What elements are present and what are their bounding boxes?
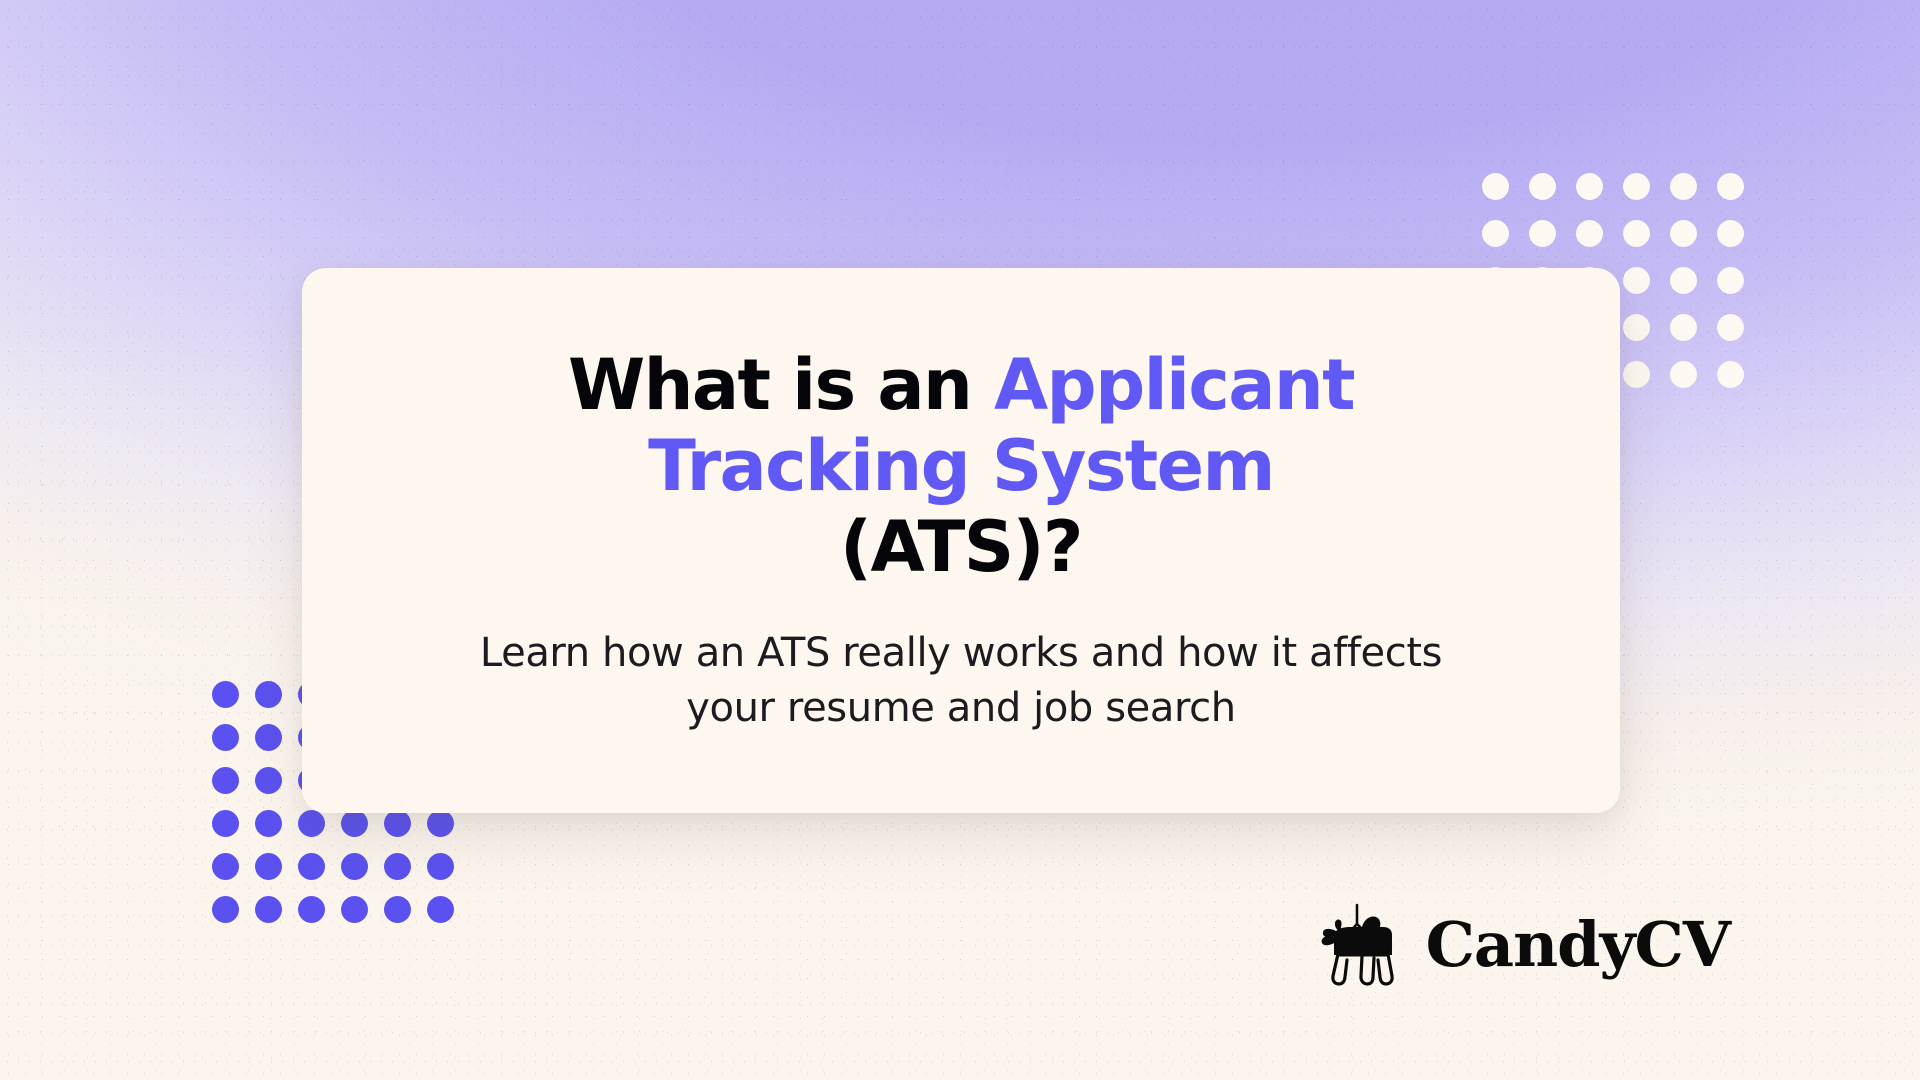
page-subtitle: Learn how an ATS really works and how it… xyxy=(441,626,1481,736)
decorative-dot xyxy=(255,681,282,708)
decorative-dot xyxy=(1717,173,1744,200)
decorative-dot xyxy=(1576,220,1603,247)
decorative-dot xyxy=(298,810,325,837)
decorative-dot xyxy=(255,896,282,923)
decorative-dot xyxy=(212,896,239,923)
decorative-dot xyxy=(427,853,454,880)
decorative-dot xyxy=(1670,314,1697,341)
hero-card: What is an Applicant Tracking System (AT… xyxy=(302,268,1620,813)
decorative-dot xyxy=(384,810,411,837)
brand-logo: CandyCV xyxy=(1316,902,1730,988)
decorative-dot xyxy=(1670,173,1697,200)
decorative-dot xyxy=(255,724,282,751)
decorative-dot xyxy=(427,896,454,923)
decorative-dot xyxy=(1670,220,1697,247)
decorative-dot xyxy=(1717,361,1744,388)
decorative-dot xyxy=(1623,361,1650,388)
decorative-dot xyxy=(341,896,368,923)
decorative-dot xyxy=(1717,220,1744,247)
decorative-dot xyxy=(1529,173,1556,200)
page-title: What is an Applicant Tracking System (AT… xyxy=(521,345,1401,589)
decorative-dot xyxy=(1717,267,1744,294)
decorative-dot xyxy=(1623,267,1650,294)
decorative-dot xyxy=(1529,220,1556,247)
decorative-dot xyxy=(255,810,282,837)
decorative-dot xyxy=(1670,361,1697,388)
decorative-dot xyxy=(384,853,411,880)
decorative-dot xyxy=(1482,173,1509,200)
decorative-dot xyxy=(427,810,454,837)
decorative-dot xyxy=(1576,173,1603,200)
decorative-dot xyxy=(212,681,239,708)
decorative-dot xyxy=(1482,220,1509,247)
brand-wordmark: CandyCV xyxy=(1426,914,1730,976)
decorative-dot xyxy=(212,853,239,880)
decorative-dot xyxy=(255,853,282,880)
decorative-dot xyxy=(212,724,239,751)
decorative-dot xyxy=(212,810,239,837)
decorative-dot xyxy=(1623,314,1650,341)
decorative-dot xyxy=(1623,220,1650,247)
decorative-dot xyxy=(1717,314,1744,341)
decorative-dot xyxy=(341,810,368,837)
decorative-dot xyxy=(384,896,411,923)
pinata-icon xyxy=(1316,902,1408,988)
decorative-dot xyxy=(341,853,368,880)
decorative-dot xyxy=(298,896,325,923)
decorative-dot xyxy=(1670,267,1697,294)
decorative-dot xyxy=(298,853,325,880)
title-segment-plain-1: What is an xyxy=(568,344,994,426)
decorative-dot xyxy=(255,767,282,794)
hero-banner: What is an Applicant Tracking System (AT… xyxy=(0,0,1920,1080)
decorative-dot xyxy=(212,767,239,794)
title-segment-plain-2: (ATS)? xyxy=(840,506,1082,588)
decorative-dot xyxy=(1623,173,1650,200)
